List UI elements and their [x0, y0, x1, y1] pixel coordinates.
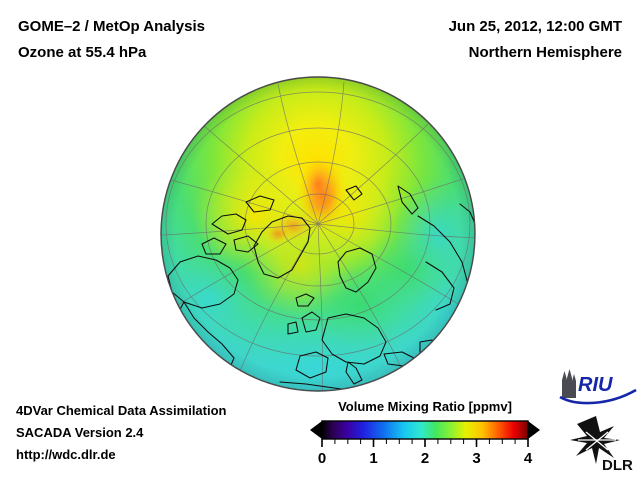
- colorbar-ticklabels: 0 1 2 3 4: [318, 450, 533, 467]
- title-hemisphere: Northern Hemisphere: [449, 40, 622, 66]
- footer-credits: 4DVar Chemical Data Assimilation SACADA …: [16, 400, 227, 466]
- globe-map: [150, 66, 490, 406]
- footer-version: SACADA Version 2.4: [16, 422, 227, 444]
- header-left: GOME–2 / MetOp Analysis Ozone at 55.4 hP…: [18, 14, 205, 66]
- riu-logo: RIU: [556, 368, 640, 408]
- title-instrument: GOME–2 / MetOp Analysis: [18, 14, 205, 40]
- colorbar-tick-3: 3: [472, 450, 480, 467]
- title-variable-level: Ozone at 55.4 hPa: [18, 40, 205, 66]
- dlr-wordmark: DLR: [602, 457, 633, 472]
- dlr-logo: DLR: [556, 414, 640, 472]
- footer-method: 4DVar Chemical Data Assimilation: [16, 400, 227, 422]
- colorbar-svg: 0 1 2 3 4: [300, 417, 550, 469]
- colorbar-title: Volume Mixing Ratio [ppmv]: [300, 399, 550, 414]
- colorbar: Volume Mixing Ratio [ppmv]: [300, 399, 550, 469]
- riu-tower-icon: [562, 369, 576, 398]
- colorbar-extend-high: [528, 421, 540, 439]
- ozone-analysis-figure: GOME–2 / MetOp Analysis Ozone at 55.4 hP…: [0, 0, 640, 480]
- colorbar-gradient: [322, 421, 528, 439]
- colorbar-extend-low: [310, 421, 322, 439]
- colorbar-major-ticks: [322, 439, 528, 447]
- riu-wordmark: RIU: [578, 374, 613, 396]
- footer-url: http://wdc.dlr.de: [16, 444, 227, 466]
- colorbar-tick-4: 4: [524, 450, 533, 467]
- colorbar-tick-2: 2: [421, 450, 429, 467]
- globe-svg: [150, 66, 490, 406]
- logo-group: RIU DLR: [556, 368, 640, 472]
- header-right: Jun 25, 2012, 12:00 GMT Northern Hemisph…: [449, 14, 622, 66]
- title-datetime: Jun 25, 2012, 12:00 GMT: [449, 14, 622, 40]
- colorbar-tick-0: 0: [318, 450, 326, 467]
- colorbar-tick-1: 1: [369, 450, 377, 467]
